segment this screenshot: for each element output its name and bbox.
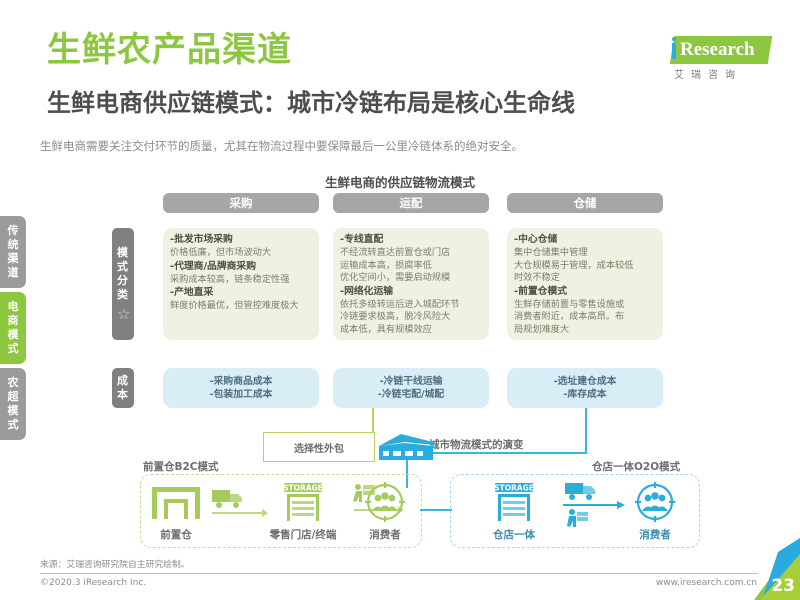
page-subtitle: 生鲜电商供应链模式：城市冷链布局是核心生命线 — [47, 88, 575, 118]
flow-node-consumer-left: 消费者 — [356, 481, 414, 543]
column-header-warehousing: 仓储 — [507, 193, 663, 213]
annotation-selective-outsourcing: 选择性外包 — [263, 432, 375, 462]
mode-desc: 采购成本较高，链条稳定性强 — [170, 274, 312, 287]
page-title: 生鲜农产品渠道 — [47, 30, 292, 70]
cost-item: -选址建仓成本 — [554, 375, 617, 389]
cost-item: -库存成本 — [563, 388, 606, 402]
sidebar-item-ecommerce-mode[interactable]: 电商模式 — [0, 292, 26, 364]
cost-item: -包装加工成本 — [210, 388, 273, 402]
consumer-group-icon — [626, 481, 684, 523]
mode-key: -中心仓储 — [514, 233, 656, 247]
flow-node-label: 零售门店/终端 — [258, 527, 348, 542]
svg-text:STORAGE: STORAGE — [283, 484, 323, 493]
sidebar-item-label: 农超模式 — [7, 376, 19, 432]
column-header-procurement: 采购 — [163, 193, 319, 213]
mode-desc: 生鲜存储前置与零售设施或 消费者附近，成本高昂。布 局规划难度大 — [514, 299, 656, 337]
cost-item: -冷链干线运输 — [380, 375, 443, 389]
row-label-cost: 成本 — [112, 368, 134, 408]
storage-integrated-icon: STORAGE — [470, 481, 558, 523]
column-header-transport: 运配 — [333, 193, 489, 213]
mode-key: -前置仓模式 — [514, 285, 656, 299]
iresearch-logo: Research 艾瑞咨询 — [660, 34, 772, 90]
mode-cell-warehousing: -中心仓储 集中仓储集中管理 大仓规模易于管理，成本较低 时效不稳定 -前置仓模… — [507, 228, 663, 340]
logo-wordmark: Research — [680, 38, 755, 62]
delivery-truck-courier-icon — [555, 481, 633, 529]
website-url: www.iresearch.com.cn — [627, 578, 757, 588]
slide-page: 生鲜农产品渠道 生鲜电商供应链模式：城市冷链布局是核心生命线 生鲜电商需要关注交… — [0, 0, 800, 600]
cost-item: -采购商品成本 — [210, 375, 273, 389]
row-label-text: 模式分类 — [117, 246, 129, 302]
sidebar-item-label: 传统渠道 — [7, 224, 19, 280]
connector-between-flows — [420, 509, 452, 511]
mode-key: -专线直配 — [340, 233, 482, 247]
footer-divider — [40, 573, 758, 574]
sidebar-item-label: 电商模式 — [7, 300, 19, 356]
flow-label-o2o: 仓店一体O2O模式 — [592, 459, 680, 474]
flow-node-retail-store: STORAGE 零售门店/终端 — [258, 481, 348, 543]
logo-i-dot-icon — [672, 37, 676, 41]
storage-store-icon: STORAGE — [258, 481, 348, 523]
flow-node-label: 消费者 — [356, 527, 414, 542]
chart-title: 生鲜电商的供应链物流模式 — [0, 172, 800, 191]
star-icon: ☆ — [117, 307, 129, 322]
sidebar-item-agri-supermarket-mode[interactable]: 农超模式 — [0, 368, 26, 440]
mode-cell-procurement: -批发市场采购 价格低廉，但市场波动大 -代理商/品牌商采购 采购成本较高，链条… — [163, 228, 319, 340]
mode-desc: 不经流转直达前置仓或门店 运输成本高，损腐率低 优化空间小，需要启动规模 — [340, 247, 482, 285]
mode-key: -产地直采 — [170, 286, 312, 300]
mode-cell-transport: -专线直配 不经流转直达前置仓或门店 运输成本高，损腐率低 优化空间小，需要启动… — [333, 228, 489, 340]
mode-key: -代理商/品牌商采购 — [170, 260, 312, 274]
copyright-text: ©2020.3 iResearch Inc. — [40, 578, 146, 588]
mode-desc: 鲜度价格最优，但管控难度极大 — [170, 300, 312, 313]
page-number: 23 — [771, 576, 795, 596]
mode-desc: 依托多级转运后进入城配环节 冷链要求极高，脱冷风险大 成本低，具有规模效应 — [340, 299, 482, 337]
warehouse-icon — [375, 430, 437, 468]
consumer-group-icon — [356, 481, 414, 523]
mode-key: -网络化运输 — [340, 285, 482, 299]
source-note: 来源：艾瑞咨询研究院自主研究绘制。 — [40, 557, 190, 570]
cost-cell-warehousing: -选址建仓成本 -库存成本 — [507, 368, 663, 408]
cost-item: -冷链宅配/城配 — [378, 388, 444, 402]
flow-arrow-truck-courier-o2o — [555, 481, 633, 529]
flow-node-integrated-store: STORAGE 仓店一体 — [470, 481, 558, 543]
mode-key: -批发市场采购 — [170, 233, 312, 247]
mode-desc: 集中仓储集中管理 大仓规模易于管理，成本较低 时效不稳定 — [514, 247, 656, 285]
flow-node-label: 前置仓 — [148, 527, 204, 542]
connector-warehousing-down — [585, 408, 587, 454]
mode-desc: 价格低廉，但市场波动大 — [170, 247, 312, 260]
annotation-city-logistics-evolution: 城市物流模式的演变 — [429, 437, 524, 452]
page-lede: 生鲜电商需要关注交付环节的质量，尤其在物流过程中要保障最后一公里冷链体系的绝对安… — [40, 138, 523, 154]
warehouse-building-icon — [148, 481, 204, 523]
flow-node-consumer-right: 消费者 — [626, 481, 684, 543]
svg-text:STORAGE: STORAGE — [494, 484, 534, 493]
flow-node-label: 消费者 — [626, 527, 684, 542]
row-label-text: 成本 — [117, 374, 129, 402]
flow-node-label: 仓店一体 — [470, 527, 558, 542]
sidebar-item-traditional-channel[interactable]: 传统渠道 — [0, 216, 26, 288]
logo-i-stem-icon — [672, 43, 676, 59]
flow-label-b2c: 前置仓B2C模式 — [143, 459, 219, 474]
row-label-mode-classification: 模式分类 ☆ — [112, 228, 134, 340]
cost-cell-transport: -冷链干线运输 -冷链宅配/城配 — [333, 368, 489, 408]
flow-node-forward-warehouse: 前置仓 — [148, 481, 204, 543]
cost-cell-procurement: -采购商品成本 -包装加工成本 — [163, 368, 319, 408]
logo-chinese-name: 艾瑞咨询 — [674, 70, 742, 82]
